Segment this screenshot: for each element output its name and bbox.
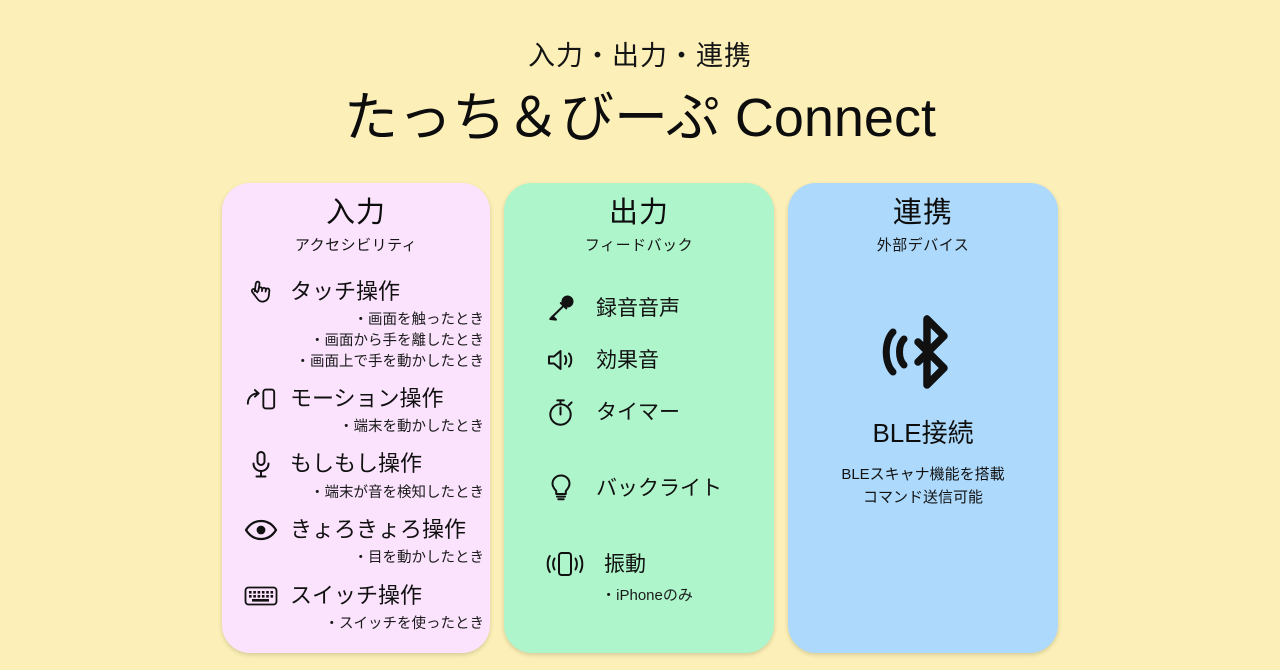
keyboard-icon (244, 579, 278, 613)
feature-switch-label: スイッチ操作 (290, 583, 422, 609)
detail-item: ・端末が音を検知したとき (222, 483, 490, 504)
feature-timer[interactable]: タイマー (504, 395, 774, 429)
detail-item: ・画面を触ったとき (222, 310, 490, 331)
feature-vibration-details: ・iPhoneのみ (504, 585, 774, 606)
poster-root: 入力・出力・連携 たっち＆びーぷ Connect 入力 アクセシビリティ (0, 0, 1280, 670)
card-link-title: 連携 (788, 197, 1058, 230)
card-input-subtitle: アクセシビリティ (222, 234, 490, 255)
feature-vibration-label: 振動 (604, 552, 646, 577)
feature-eye-details: ・目を動かしたとき (222, 548, 490, 569)
hand-icon (244, 275, 278, 309)
feature-recorded-audio[interactable]: 録音音声 (504, 291, 774, 325)
feature-voice[interactable]: もしもし操作 (222, 448, 490, 482)
card-output-features: 録音音声 効果音 (504, 291, 774, 606)
detail-item: ・端末を動かしたとき (222, 417, 490, 438)
bluetooth-icon (788, 309, 1058, 395)
vibration-icon (544, 547, 586, 581)
ble-note-line: BLEスキャナ機能を搭載 (788, 464, 1058, 487)
card-input-title: 入力 (222, 197, 490, 230)
card-input-features: タッチ操作 ・画面を触ったとき ・画面から手を離したとき ・画面上で手を動かした… (222, 275, 490, 634)
ble-note: BLEスキャナ機能を搭載 コマンド送信可能 (788, 464, 1058, 509)
feature-timer-label: タイマー (596, 400, 680, 425)
header-eyebrow: 入力・出力・連携 (0, 42, 1280, 72)
card-link[interactable]: 連携 外部デバイス BLE接続 BLEスキャナ機能を搭載 コマンド送信可能 (788, 183, 1058, 653)
feature-touch-label: タッチ操作 (290, 279, 400, 305)
feature-vibration[interactable]: 振動 (504, 547, 774, 581)
feature-eye[interactable]: きょろきょろ操作 (222, 513, 490, 547)
card-output-subtitle: フィードバック (504, 234, 774, 255)
feature-motion[interactable]: モーション操作 (222, 382, 490, 416)
motion-phone-icon (244, 382, 278, 416)
card-output-title: 出力 (504, 197, 774, 230)
stopwatch-icon (544, 395, 578, 429)
feature-eye-label: きょろきょろ操作 (290, 517, 466, 543)
cards-row: 入力 アクセシビリティ タッチ操作 (222, 183, 1058, 653)
feature-recorded-audio-label: 録音音声 (596, 296, 680, 321)
feature-motion-details: ・端末を動かしたとき (222, 417, 490, 438)
ble-block: BLE接続 BLEスキャナ機能を搭載 コマンド送信可能 (788, 309, 1058, 509)
feature-voice-label: もしもし操作 (290, 451, 422, 477)
feature-backlight-label: バックライト (596, 476, 722, 501)
handheld-mic-icon (544, 291, 578, 325)
microphone-icon (244, 448, 278, 482)
feature-touch[interactable]: タッチ操作 (222, 275, 490, 309)
eye-icon (244, 513, 278, 547)
detail-item: ・画面から手を離したとき (222, 331, 490, 352)
lightbulb-icon (544, 471, 578, 505)
card-input[interactable]: 入力 アクセシビリティ タッチ操作 (222, 183, 490, 653)
feature-switch-details: ・スイッチを使ったとき (222, 614, 490, 635)
card-link-subtitle: 外部デバイス (788, 234, 1058, 255)
feature-backlight[interactable]: バックライト (504, 471, 774, 505)
ble-note-line: コマンド送信可能 (788, 487, 1058, 510)
header: 入力・出力・連携 たっち＆びーぷ Connect (0, 0, 1280, 148)
page-title: たっち＆びーぷ Connect (0, 88, 1280, 148)
detail-item: ・スイッチを使ったとき (222, 614, 490, 635)
feature-sound-effect-label: 効果音 (596, 348, 659, 373)
feature-sound-effect[interactable]: 効果音 (504, 343, 774, 377)
feature-touch-details: ・画面を触ったとき ・画面から手を離したとき ・画面上で手を動かしたとき (222, 310, 490, 372)
speaker-icon (544, 343, 578, 377)
detail-item: ・画面上で手を動かしたとき (222, 352, 490, 373)
card-output[interactable]: 出力 フィードバック 録音音声 (504, 183, 774, 653)
ble-title: BLE接続 (788, 413, 1058, 450)
feature-voice-details: ・端末が音を検知したとき (222, 483, 490, 504)
feature-switch[interactable]: スイッチ操作 (222, 579, 490, 613)
detail-item: ・目を動かしたとき (222, 548, 490, 569)
feature-motion-label: モーション操作 (290, 386, 444, 412)
detail-item: ・iPhoneのみ (504, 585, 774, 606)
